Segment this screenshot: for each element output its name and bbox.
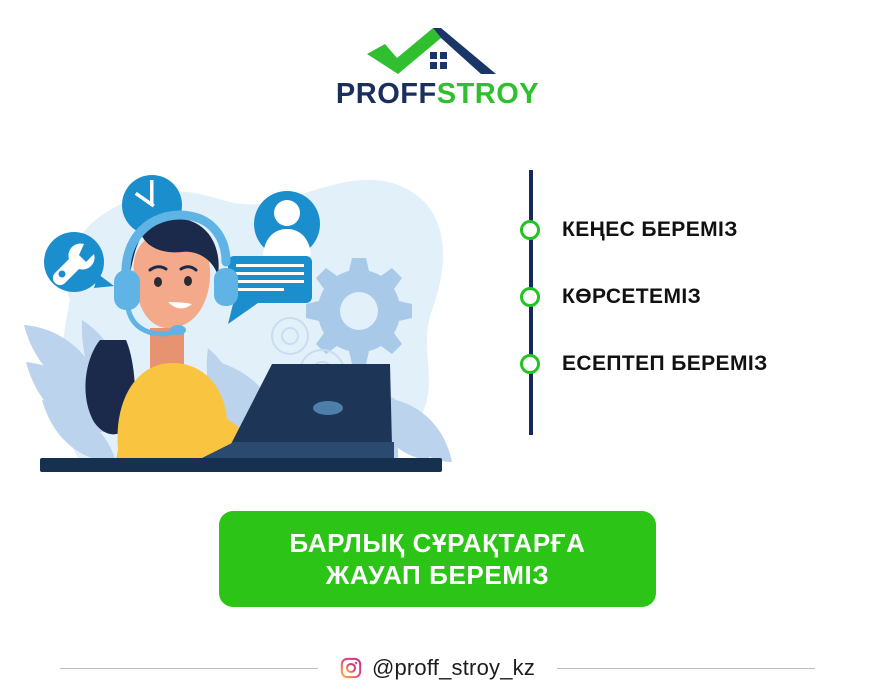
cta-line-1: БАРЛЫҚ СҰРАҚТАРҒА — [290, 527, 586, 560]
brand-name-primary: PROFF — [336, 78, 437, 110]
brand-wordmark: PROFFSTROY — [0, 80, 875, 109]
checklist-item-3: ЕСЕПТЕП БЕРЕМІЗ — [520, 352, 768, 376]
checklist-item-2: КӨРСЕТЕМІЗ — [520, 285, 701, 309]
divider-left — [60, 668, 318, 669]
checklist-item-2-label: КӨРСЕТЕМІЗ — [562, 285, 701, 309]
desk — [40, 458, 442, 472]
checklist-item-3-label: ЕСЕПТЕП БЕРЕМІЗ — [562, 352, 768, 376]
check-dot-icon — [520, 354, 540, 374]
instagram-handle-text[interactable]: @proff_stroy_kz — [372, 655, 535, 681]
brand-logo: PROFFSTROY — [0, 26, 875, 109]
instagram-icon[interactable] — [340, 657, 362, 679]
check-dot-icon — [520, 220, 540, 240]
gear-icon — [306, 258, 412, 364]
checklist-item-1: КЕҢЕС БЕРЕМІЗ — [520, 218, 738, 242]
cta-button[interactable]: БАРЛЫҚ СҰРАҚТАРҒА ЖАУАП БЕРЕМІЗ — [219, 511, 656, 607]
divider-right — [557, 668, 815, 669]
brand-name-secondary: STROY — [437, 78, 539, 110]
house-roof-check-icon — [363, 26, 513, 78]
instagram-handle-group[interactable]: @proff_stroy_kz — [340, 655, 535, 681]
cta-line-2: ЖАУАП БЕРЕМІЗ — [326, 559, 550, 592]
benefits-checklist: КЕҢЕС БЕРЕМІЗ КӨРСЕТЕМІЗ ЕСЕПТЕП БЕРЕМІЗ — [520, 170, 860, 435]
footer: @proff_stroy_kz — [0, 648, 875, 688]
user-avatar-icon — [254, 191, 320, 265]
check-dot-icon — [520, 287, 540, 307]
checklist-item-1-label: КЕҢЕС БЕРЕМІЗ — [562, 218, 738, 242]
call-center-operator-illustration — [22, 150, 462, 480]
